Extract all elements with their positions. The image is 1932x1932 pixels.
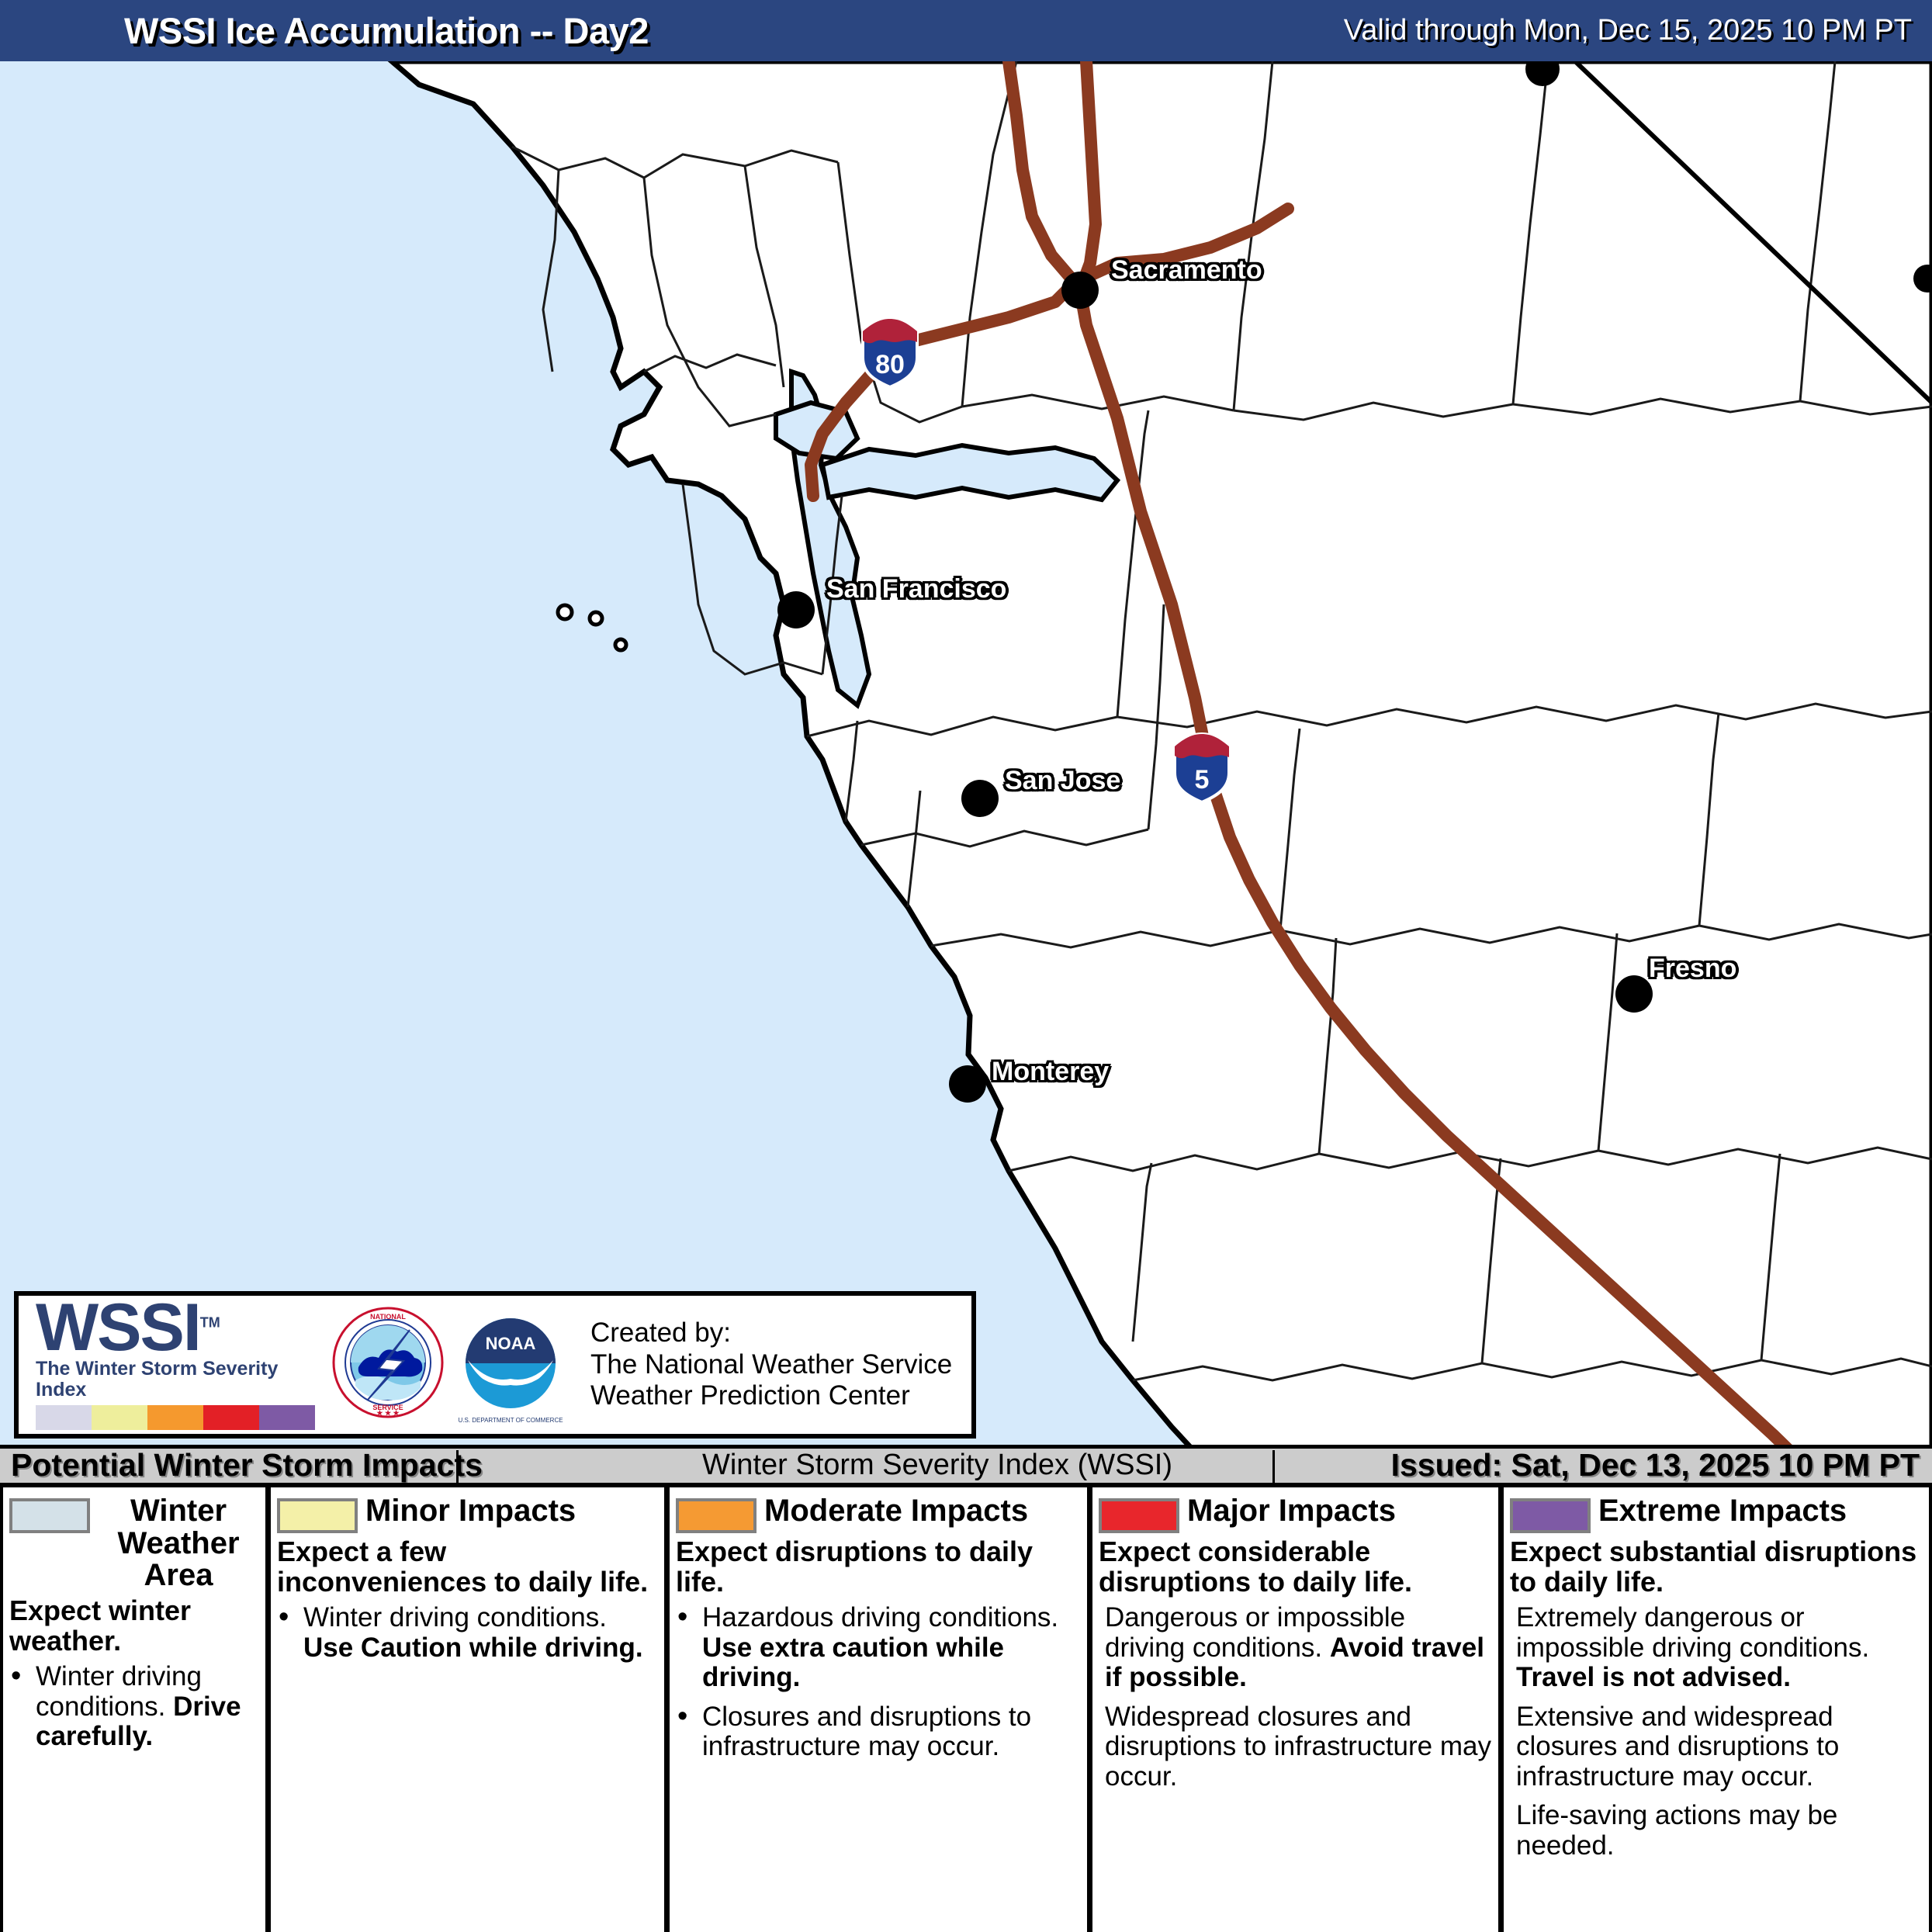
legend-swatch-moderate-impacts <box>676 1498 757 1533</box>
bullet-normal-text: Extremely dangerous or impossible drivin… <box>1516 1602 1869 1663</box>
svg-text:NATIONAL: NATIONAL <box>370 1313 406 1321</box>
created-by-line-3: Weather Prediction Center <box>590 1380 952 1412</box>
noaa-seal-label: NOAA <box>486 1334 536 1353</box>
legend-header: Minor Impacts <box>277 1495 658 1533</box>
bullet-bold-text: Travel is not advised. <box>1516 1662 1791 1692</box>
legend-summary-major-impacts: Expect considerable disruptions to daily… <box>1099 1536 1492 1597</box>
city-dot-san-jose <box>961 780 999 817</box>
legend-title-winter-weather-area: Winter Weather Area <box>98 1495 259 1592</box>
interstate-5-shield: 5 <box>1175 734 1229 802</box>
bullet-normal-text: Winter driving conditions. <box>303 1602 607 1633</box>
map-canvas[interactable]: 80 5 Sacramento San Francisco San Jose F… <box>0 61 1932 1469</box>
nws-seal-icon: ★ ★ ★ NATIONAL SERVICE <box>332 1307 445 1423</box>
wssi-trademark: TM <box>200 1315 220 1331</box>
impact-legend: Winter Weather Area Expect winter weathe… <box>0 1485 1932 1932</box>
colorbar-segment-winter-weather <box>36 1405 92 1430</box>
legend-title-major-impacts: Major Impacts <box>1187 1495 1492 1528</box>
list-item: Winter driving conditions. Drive careful… <box>9 1662 259 1752</box>
legend-header: Winter Weather Area <box>9 1495 259 1592</box>
svg-text:80: 80 <box>875 350 905 379</box>
legend-swatch-extreme-impacts <box>1510 1498 1591 1533</box>
bullet-normal-text: Hazardous driving conditions. <box>702 1602 1058 1633</box>
legend-column-moderate-impacts[interactable]: Moderate Impacts Expect disruptions to d… <box>667 1487 1090 1932</box>
wssi-wordmark: WSSITM <box>36 1300 321 1356</box>
island-3 <box>615 639 626 650</box>
wssi-brand: WSSITM The Winter Storm Severity Index <box>19 1300 321 1429</box>
legend-summary-winter-weather-area: Expect winter weather. <box>9 1595 259 1656</box>
colorbar-segment-major <box>203 1405 259 1430</box>
colorbar-segment-moderate <box>147 1405 203 1430</box>
city-dot-fresno <box>1615 975 1653 1013</box>
svg-text:U.S. DEPARTMENT OF COMMERCE: U.S. DEPARTMENT OF COMMERCE <box>458 1417 563 1424</box>
legend-bullets-major-impacts: Dangerous or impossible driving conditio… <box>1099 1603 1492 1792</box>
agency-seals: ★ ★ ★ NATIONAL SERVICE NOAA U.S. DEPARTM… <box>321 1306 580 1424</box>
wssi-wordmark-text: WSSI <box>36 1290 200 1365</box>
legend-bullets-minor-impacts: Winter driving conditions. Use Caution w… <box>277 1603 658 1663</box>
valid-through-text: Valid through Mon, Dec 15, 2025 10 PM PT <box>1344 14 1912 47</box>
bullet-normal-text: Widespread closures and disruptions to i… <box>1105 1702 1491 1792</box>
wssi-logo-box: WSSITM The Winter Storm Severity Index <box>14 1291 976 1439</box>
list-item: Closures and disruptions to infrastructu… <box>676 1702 1081 1762</box>
island-1 <box>558 605 572 619</box>
page-title: WSSI Ice Accumulation -- Day2 <box>124 9 649 52</box>
status-bar-middle-label: Winter Storm Severity Index (WSSI) <box>702 1449 1172 1482</box>
svg-text:SERVICE: SERVICE <box>372 1404 403 1411</box>
created-by-block: Created by: The National Weather Service… <box>580 1317 952 1413</box>
bullet-normal-text: Closures and disruptions to infrastructu… <box>702 1702 1031 1762</box>
list-item: Widespread closures and disruptions to i… <box>1099 1702 1492 1792</box>
suisun-bay <box>822 445 1117 500</box>
legend-swatch-major-impacts <box>1099 1498 1179 1533</box>
status-bar: Potential Winter Storm Impacts Winter St… <box>0 1445 1932 1485</box>
legend-summary-moderate-impacts: Expect disruptions to daily life. <box>676 1536 1081 1597</box>
list-item: Winter driving conditions. Use Caution w… <box>277 1603 658 1663</box>
status-bar-divider-2 <box>1272 1450 1275 1486</box>
status-bar-left-label: Potential Winter Storm Impacts <box>11 1447 483 1484</box>
created-by-line-2: The National Weather Service <box>590 1349 952 1381</box>
legend-bullets-extreme-impacts: Extremely dangerous or impossible drivin… <box>1510 1603 1923 1861</box>
bullet-bold-text: Use extra caution while driving. <box>702 1633 1004 1693</box>
bullet-bold-text: Use Caution while driving. <box>303 1633 643 1663</box>
legend-column-major-impacts[interactable]: Major Impacts Expect considerable disrup… <box>1090 1487 1501 1932</box>
list-item: Hazardous driving conditions. Use extra … <box>676 1603 1081 1693</box>
legend-title-extreme-impacts: Extreme Impacts <box>1598 1495 1923 1528</box>
legend-header: Major Impacts <box>1099 1495 1492 1533</box>
colorbar-segment-minor <box>92 1405 147 1430</box>
island-2 <box>590 612 602 625</box>
colorbar-segment-extreme <box>259 1405 315 1430</box>
list-item: Dangerous or impossible driving conditio… <box>1099 1603 1492 1693</box>
legend-column-extreme-impacts[interactable]: Extreme Impacts Expect substantial disru… <box>1501 1487 1932 1932</box>
legend-column-minor-impacts[interactable]: Minor Impacts Expect a few inconvenience… <box>268 1487 667 1932</box>
bullet-normal-text: Extensive and widespread closures and di… <box>1516 1702 1839 1792</box>
created-by-line-1: Created by: <box>590 1317 952 1349</box>
list-item: Extremely dangerous or impossible drivin… <box>1510 1603 1923 1693</box>
page-header: WSSI Ice Accumulation -- Day2 Valid thro… <box>0 0 1932 61</box>
list-item: Life-saving actions may be needed. <box>1510 1801 1923 1861</box>
wssi-colorbar <box>36 1405 315 1430</box>
legend-bullets-moderate-impacts: Hazardous driving conditions. Use extra … <box>676 1603 1081 1762</box>
status-bar-issued-label: Issued: Sat, Dec 13, 2025 10 PM PT <box>1391 1447 1920 1484</box>
legend-header: Moderate Impacts <box>676 1495 1081 1533</box>
noaa-seal-icon: NOAA U.S. DEPARTMENT OF COMMERCE <box>452 1306 569 1424</box>
legend-title-moderate-impacts: Moderate Impacts <box>764 1495 1081 1528</box>
interstate-80-shield: 80 <box>863 319 917 387</box>
legend-header: Extreme Impacts <box>1510 1495 1923 1533</box>
city-dot-monterey <box>949 1065 986 1103</box>
city-dot-sacramento <box>1061 272 1099 309</box>
wssi-map-page: WSSI Ice Accumulation -- Day2 Valid thro… <box>0 0 1932 1932</box>
legend-swatch-winter-weather-area <box>9 1498 90 1533</box>
legend-swatch-minor-impacts <box>277 1498 358 1533</box>
legend-title-minor-impacts: Minor Impacts <box>365 1495 658 1528</box>
city-dot-san-francisco <box>777 591 815 628</box>
legend-bullets-winter-weather-area: Winter driving conditions. Drive careful… <box>9 1662 259 1752</box>
svg-text:5: 5 <box>1195 765 1210 795</box>
legend-summary-minor-impacts: Expect a few inconveniences to daily lif… <box>277 1536 658 1597</box>
wssi-tagline: The Winter Storm Severity Index <box>36 1359 321 1401</box>
legend-summary-extreme-impacts: Expect substantial disruptions to daily … <box>1510 1536 1923 1597</box>
map-geometry: 80 5 <box>0 61 1932 1469</box>
legend-column-winter-weather-area[interactable]: Winter Weather Area Expect winter weathe… <box>0 1487 268 1932</box>
list-item: Extensive and widespread closures and di… <box>1510 1702 1923 1792</box>
bullet-normal-text: Life-saving actions may be needed. <box>1516 1800 1837 1861</box>
